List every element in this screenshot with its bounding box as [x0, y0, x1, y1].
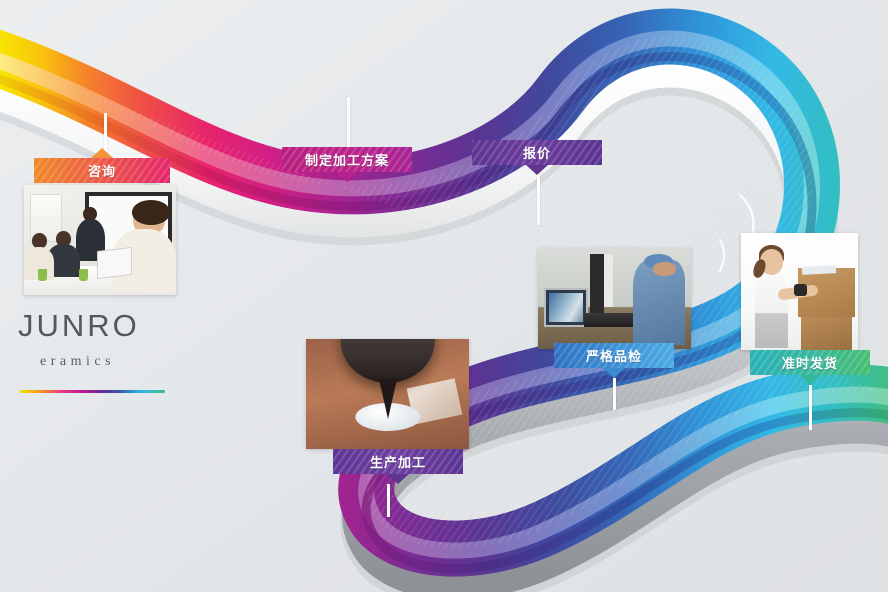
connector-plan — [347, 97, 350, 147]
connector-quote — [537, 167, 540, 225]
brand-tagline: eramics — [40, 354, 198, 370]
connector-qc — [613, 378, 616, 410]
connector-ship — [809, 385, 812, 430]
label-tip-down-icon — [387, 474, 409, 484]
photo-qc — [538, 248, 691, 349]
brand-name: JUNRO — [18, 310, 198, 341]
label-tip-down-icon — [526, 165, 548, 175]
step-label-ship[interactable]: 准时发货 — [750, 350, 870, 375]
step-label-produce[interactable]: 生产加工 — [333, 449, 463, 474]
step-label-qc[interactable]: 严格品检 — [554, 343, 674, 368]
process-flow-banner: JUNRO eramics 咨询 — [0, 0, 888, 592]
photo-ship — [741, 233, 858, 350]
label-tip-down-icon — [603, 368, 625, 378]
photo-consult — [24, 185, 176, 295]
label-tip-down-icon — [799, 375, 821, 385]
step-label-consult[interactable]: 咨询 — [34, 158, 170, 183]
brand-gradient-rule — [20, 390, 165, 393]
photo-produce — [306, 339, 469, 449]
label-tip-up-icon — [91, 148, 113, 158]
step-label-plan[interactable]: 制定加工方案 — [282, 147, 412, 172]
label-tip-down-icon — [336, 172, 358, 182]
step-label-quote[interactable]: 报价 — [472, 140, 602, 165]
connector-produce — [387, 484, 390, 517]
brand-logo: JUNRO eramics — [18, 310, 198, 393]
